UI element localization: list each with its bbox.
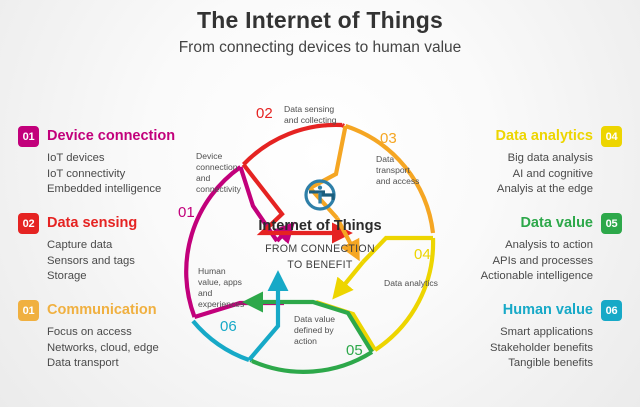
center-title: Internet of Things xyxy=(230,218,410,234)
segment-number-06: 06 xyxy=(220,318,237,335)
segment-number-04: 04 xyxy=(414,246,431,263)
segment-label-line: Data sensing xyxy=(284,104,374,115)
center-tagline: FROM CONNECTION TO BENEFIT xyxy=(230,241,410,274)
segment-label-line: connection xyxy=(196,162,262,173)
legend-badge: 06 xyxy=(601,300,622,321)
segment-label-line: action xyxy=(294,336,366,347)
page-title: The Internet of Things xyxy=(0,8,640,33)
isc-circle-i-logo-icon xyxy=(303,178,337,212)
header: The Internet of Things From connecting d… xyxy=(0,8,640,56)
legend-badge: 04 xyxy=(601,126,622,147)
center-tagline-line-1: FROM CONNECTION xyxy=(230,241,410,257)
legend-badge: 05 xyxy=(601,213,622,234)
segment-label-line: and xyxy=(198,288,268,299)
page-subtitle: From connecting devices to human value xyxy=(0,39,640,56)
segment-number-03: 03 xyxy=(380,130,397,147)
legend-badge: 01 xyxy=(18,300,39,321)
legend-title: Communication xyxy=(47,303,157,319)
segment-label-line: Data xyxy=(376,154,448,165)
center-tagline-line-2: TO BENEFIT xyxy=(230,257,410,273)
segment-label-line: defined by xyxy=(294,325,366,336)
segment-label-line: Device xyxy=(196,151,262,162)
segment-label-line: Data analytics xyxy=(384,278,470,289)
segment-label-line: value, apps xyxy=(198,277,268,288)
segment-number-01: 01 xyxy=(178,204,195,221)
segment-number-02: 02 xyxy=(256,105,273,122)
segment-label-05: Data value defined by action xyxy=(294,314,366,347)
legend-title: Data value xyxy=(520,216,593,232)
legend-title: Data sensing xyxy=(47,216,137,232)
legend-title: Human value xyxy=(503,303,593,319)
legend-badge: 01 xyxy=(18,126,39,147)
legend-title: Data analytics xyxy=(495,129,593,145)
infographic-canvas: The Internet of Things From connecting d… xyxy=(0,0,640,407)
segment-label-line: and collecting xyxy=(284,115,374,126)
segment-label-line: experiences xyxy=(198,299,268,310)
segment-label-04: Data analytics xyxy=(384,278,470,289)
legend-badge: 02 xyxy=(18,213,39,234)
center-content: Internet of Things FROM CONNECTION TO BE… xyxy=(230,178,410,274)
segment-label-02: Data sensing and collecting xyxy=(284,104,374,126)
segment-label-line: Data value xyxy=(294,314,366,325)
segment-label-line: transport xyxy=(376,165,448,176)
